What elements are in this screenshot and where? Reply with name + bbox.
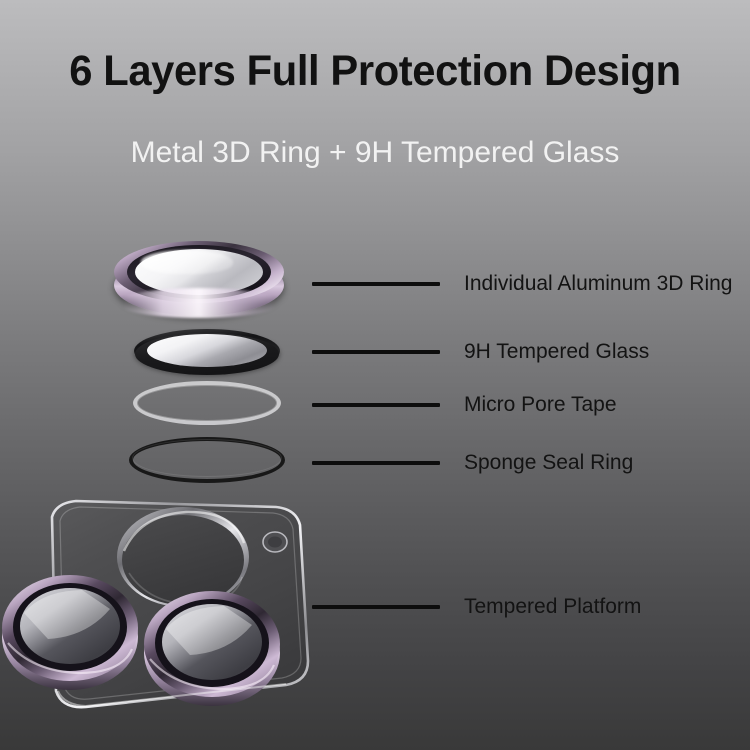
tape-inner-highlight	[137, 385, 277, 421]
callout-tempered-glass: 9H Tempered Glass	[312, 340, 649, 364]
ring-glass-glint	[141, 250, 233, 274]
callout-leader-line	[312, 461, 440, 465]
callout-label: Micro Pore Tape	[464, 393, 617, 417]
callout-label: 9H Tempered Glass	[464, 340, 649, 364]
part-tempered-platform	[0, 485, 340, 750]
callout-label: Tempered Platform	[464, 595, 641, 619]
part-micro-pore-tape	[133, 381, 281, 425]
ring-rim-highlight	[116, 288, 282, 318]
tempered-platform-illustration	[0, 485, 340, 750]
part-aluminum-3d-ring	[108, 228, 292, 328]
platform-open-lens-hole	[117, 507, 249, 607]
infographic-canvas: 6 Layers Full Protection Design Metal 3D…	[0, 0, 750, 750]
page-title: 6 Layers Full Protection Design	[11, 46, 739, 96]
platform-lens-ring-right	[144, 591, 280, 706]
sponge-inner-highlight	[132, 439, 282, 477]
callout-leader-line	[312, 350, 440, 354]
callout-aluminum-ring: Individual Aluminum 3D Ring	[312, 272, 732, 296]
callout-micro-pore-tape: Micro Pore Tape	[312, 393, 617, 417]
platform-flash-cutout	[263, 532, 287, 552]
callout-leader-line	[312, 282, 440, 286]
callout-label: Sponge Seal Ring	[464, 451, 633, 475]
page-subtitle: Metal 3D Ring + 9H Tempered Glass	[0, 135, 750, 171]
callout-tempered-platform: Tempered Platform	[312, 595, 641, 619]
part-9h-tempered-glass	[134, 329, 280, 377]
callout-sponge-seal-ring: Sponge Seal Ring	[312, 451, 633, 475]
platform-lens-ring-left	[2, 575, 138, 690]
part-sponge-seal-ring	[129, 437, 285, 483]
callout-label: Individual Aluminum 3D Ring	[464, 272, 732, 296]
callout-leader-line	[312, 605, 440, 609]
callout-leader-line	[312, 403, 440, 407]
glass-face	[147, 334, 267, 367]
